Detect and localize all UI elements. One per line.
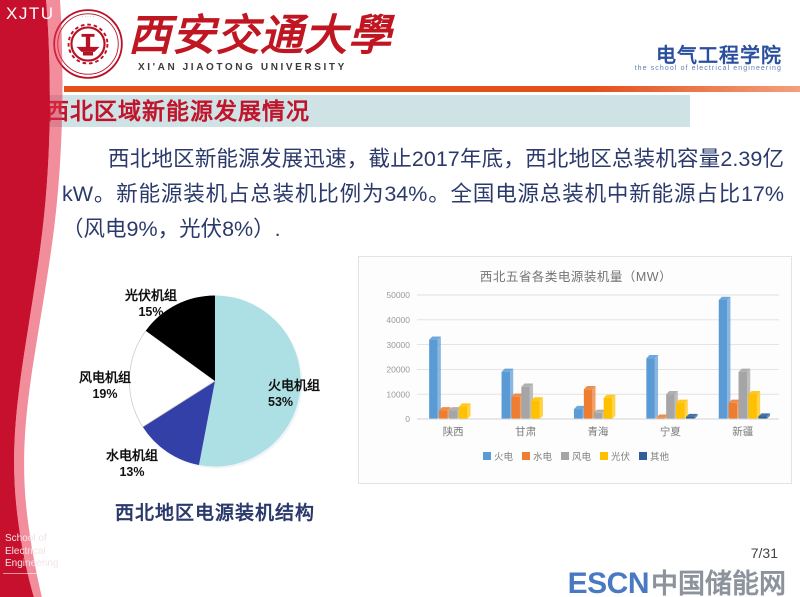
legend-label: 火电 xyxy=(494,449,513,463)
school-name-en: the school of electrical engineering xyxy=(635,65,782,72)
legend-label: 光伏 xyxy=(611,449,630,463)
sidebar-footer-line-1: School of xyxy=(5,533,58,546)
svg-text:40000: 40000 xyxy=(386,315,410,325)
pie-label-solar-value: 15% xyxy=(102,304,200,320)
legend-swatch-icon xyxy=(483,452,491,460)
pie-label-hydro: 水电机组 13% xyxy=(84,448,180,480)
watermark-name: 中国储能网 xyxy=(651,562,786,597)
svg-text:10000: 10000 xyxy=(386,389,410,399)
left-red-sidebar: XJTU School of Electrical Engineering xyxy=(0,0,68,597)
legend-swatch-icon xyxy=(639,452,647,460)
pie-label-solar: 光伏机组 15% xyxy=(102,288,200,320)
pie-label-wind: 风电机组 19% xyxy=(62,370,148,402)
svg-text:· · · · · · ·: · · · · · · · xyxy=(79,71,96,76)
sidebar-footer: School of Electrical Engineering xyxy=(5,533,58,571)
bar-chart-title: 西北五省各类电源装机量（MW） xyxy=(359,266,793,285)
pie-label-thermal-value: 53% xyxy=(268,394,360,410)
sidebar-footer-line-3: Engineering xyxy=(5,558,58,571)
pie-label-thermal-name: 火电机组 xyxy=(268,378,320,393)
svg-text:新疆: 新疆 xyxy=(732,425,753,438)
sidebar-shape xyxy=(0,0,68,597)
slide-body-text: 西北地区新能源发展迅速，截止2017年底，西北地区总装机容量2.39亿kW。新能… xyxy=(62,142,784,247)
pie-label-hydro-name: 水电机组 xyxy=(106,448,158,463)
university-name-en: XI'AN JIAOTONG UNIVERSITY xyxy=(138,62,347,73)
pie-label-wind-value: 19% xyxy=(62,386,148,402)
pie-chart-block: 光伏机组 15% 风电机组 19% 水电机组 13% 火电机组 53% 西北地区… xyxy=(70,270,360,525)
pie-chart-caption: 西北地区电源装机结构 xyxy=(70,498,360,525)
watermark-brand: ESCN xyxy=(568,567,649,597)
pie-label-solar-name: 光伏机组 xyxy=(125,288,177,303)
legend-item-水电[interactable]: 水电 xyxy=(522,449,552,463)
slide-title: 西北区域新能源发展情况 xyxy=(46,96,310,126)
legend-item-其他[interactable]: 其他 xyxy=(639,449,669,463)
svg-text:30000: 30000 xyxy=(386,340,410,350)
svg-text:0: 0 xyxy=(405,414,410,424)
legend-label: 风电 xyxy=(572,449,591,463)
bar-chart-card: 西北五省各类电源装机量（MW） 010000200003000040000500… xyxy=(358,256,792,484)
svg-text:青海: 青海 xyxy=(588,425,609,438)
pie-label-thermal: 火电机组 53% xyxy=(268,378,360,410)
sidebar-footer-line-2: Electrical xyxy=(5,546,58,559)
pie-label-wind-name: 风电机组 xyxy=(79,370,131,385)
legend-item-光伏[interactable]: 光伏 xyxy=(600,449,630,463)
slide-header: · · · · · · · · · · · · 西安交通大學 XI'AN JIA… xyxy=(0,0,800,86)
xjtu-tag: XJTU xyxy=(6,4,55,24)
watermark: ESCN 中国储能网 xyxy=(568,562,786,597)
slide-canvas: XJTU School of Electrical Engineering · … xyxy=(0,0,800,597)
svg-text:50000: 50000 xyxy=(386,290,410,300)
svg-text:陕西: 陕西 xyxy=(443,425,464,438)
school-name-cn: 电气工程学院 xyxy=(656,39,782,68)
legend-swatch-icon xyxy=(561,452,569,460)
legend-label: 水电 xyxy=(533,449,552,463)
svg-text:20000: 20000 xyxy=(386,365,410,375)
university-name-cn: 西安交通大學 xyxy=(128,11,448,63)
legend-item-风电[interactable]: 风电 xyxy=(561,449,591,463)
legend-swatch-icon xyxy=(600,452,608,460)
legend-swatch-icon xyxy=(522,452,530,460)
sidebar-footer-divider xyxy=(3,573,53,574)
header-divider-rule xyxy=(64,86,800,92)
svg-text:宁夏: 宁夏 xyxy=(660,425,681,438)
installed-capacity-bar-chart: 01000020000300004000050000陕西甘肃青海宁夏新疆 xyxy=(359,287,793,447)
svg-text:· · · · ·: · · · · · xyxy=(82,13,94,18)
legend-item-火电[interactable]: 火电 xyxy=(483,449,513,463)
page-number: 7/31 xyxy=(751,545,778,561)
pie-label-hydro-value: 13% xyxy=(84,464,180,480)
legend-label: 其他 xyxy=(650,449,669,463)
bar-chart-legend: 火电水电风电光伏其他 xyxy=(359,449,793,463)
svg-text:甘肃: 甘肃 xyxy=(515,425,536,438)
